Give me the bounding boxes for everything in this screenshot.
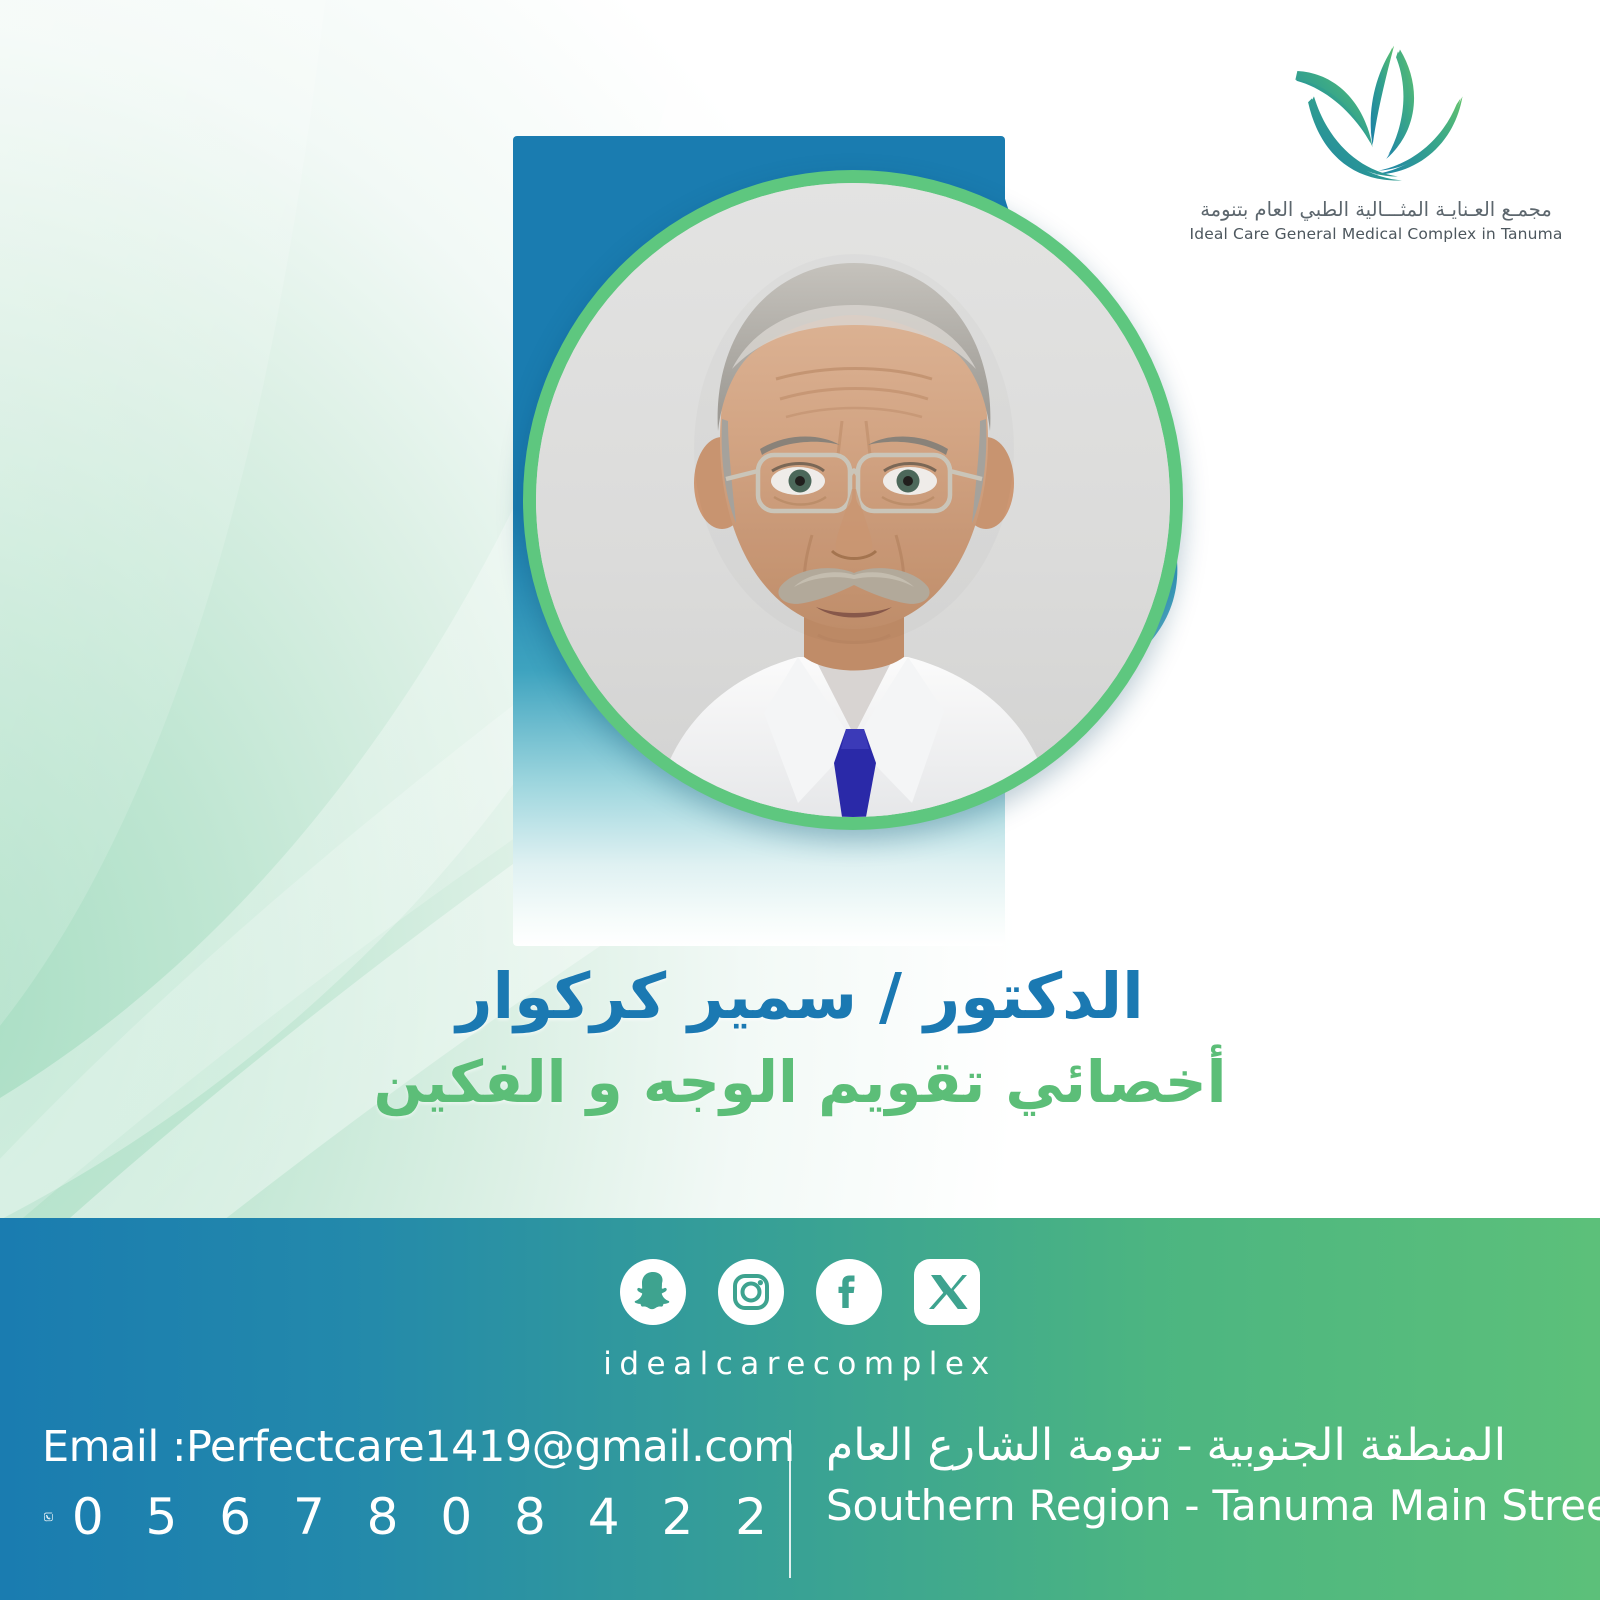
doctor-name: الدكتور / سمير كركوار <box>0 960 1600 1034</box>
address-arabic: المنطقة الجنوبية - تنومة الشارع العام <box>826 1420 1600 1471</box>
doctor-photo <box>536 183 1170 817</box>
footer-bar: idealcarecomplex Email :Perfectcare1419@… <box>0 1218 1600 1600</box>
brand-logo: مجمـع العـنايـة المثـــالية الطبي العام … <box>1196 38 1556 268</box>
doctor-name-block: الدكتور / سمير كركوار أخصائي تقويم الوجه… <box>0 960 1600 1117</box>
social-link-facebook[interactable] <box>815 1258 883 1326</box>
phone-in-square-icon <box>42 1486 54 1548</box>
social-links <box>0 1258 1600 1326</box>
instagram-icon <box>718 1259 784 1325</box>
contact-strip: Email :Perfectcare1419@gmail.com 0 5 6 7… <box>0 1416 1600 1600</box>
social-link-instagram[interactable] <box>717 1258 785 1326</box>
brand-name-english: Ideal Care General Medical Complex in Ta… <box>1189 225 1562 243</box>
poster-root: مجمـع العـنايـة المثـــالية الطبي العام … <box>0 0 1600 1600</box>
email-text[interactable]: Email :Perfectcare1419@gmail.com <box>42 1422 780 1472</box>
doctor-portrait-illustration <box>536 183 1170 817</box>
doctor-photo-ring <box>523 170 1183 830</box>
facebook-icon <box>816 1259 882 1325</box>
contact-left: Email :Perfectcare1419@gmail.com 0 5 6 7… <box>0 1416 780 1548</box>
leaf-mark-icon <box>1269 38 1484 188</box>
doctor-specialty: أخصائي تقويم الوجه و الفكين <box>0 1048 1600 1116</box>
social-handle: idealcarecomplex <box>0 1346 1600 1382</box>
brand-name-arabic: مجمـع العـنايـة المثـــالية الطبي العام … <box>1200 198 1552 221</box>
snapchat-icon <box>620 1259 686 1325</box>
address-english: Southern Region - Tanuma Main Street <box>826 1481 1600 1530</box>
x-twitter-icon <box>914 1259 980 1325</box>
social-link-x[interactable] <box>913 1258 981 1326</box>
social-link-snapchat[interactable] <box>619 1258 687 1326</box>
phone-row[interactable]: 0 5 6 7 8 0 8 4 2 2 <box>42 1486 780 1548</box>
contact-right: المنطقة الجنوبية - تنومة الشارع العام So… <box>800 1416 1600 1530</box>
phone-number: 0 5 6 7 8 0 8 4 2 2 <box>72 1488 780 1546</box>
